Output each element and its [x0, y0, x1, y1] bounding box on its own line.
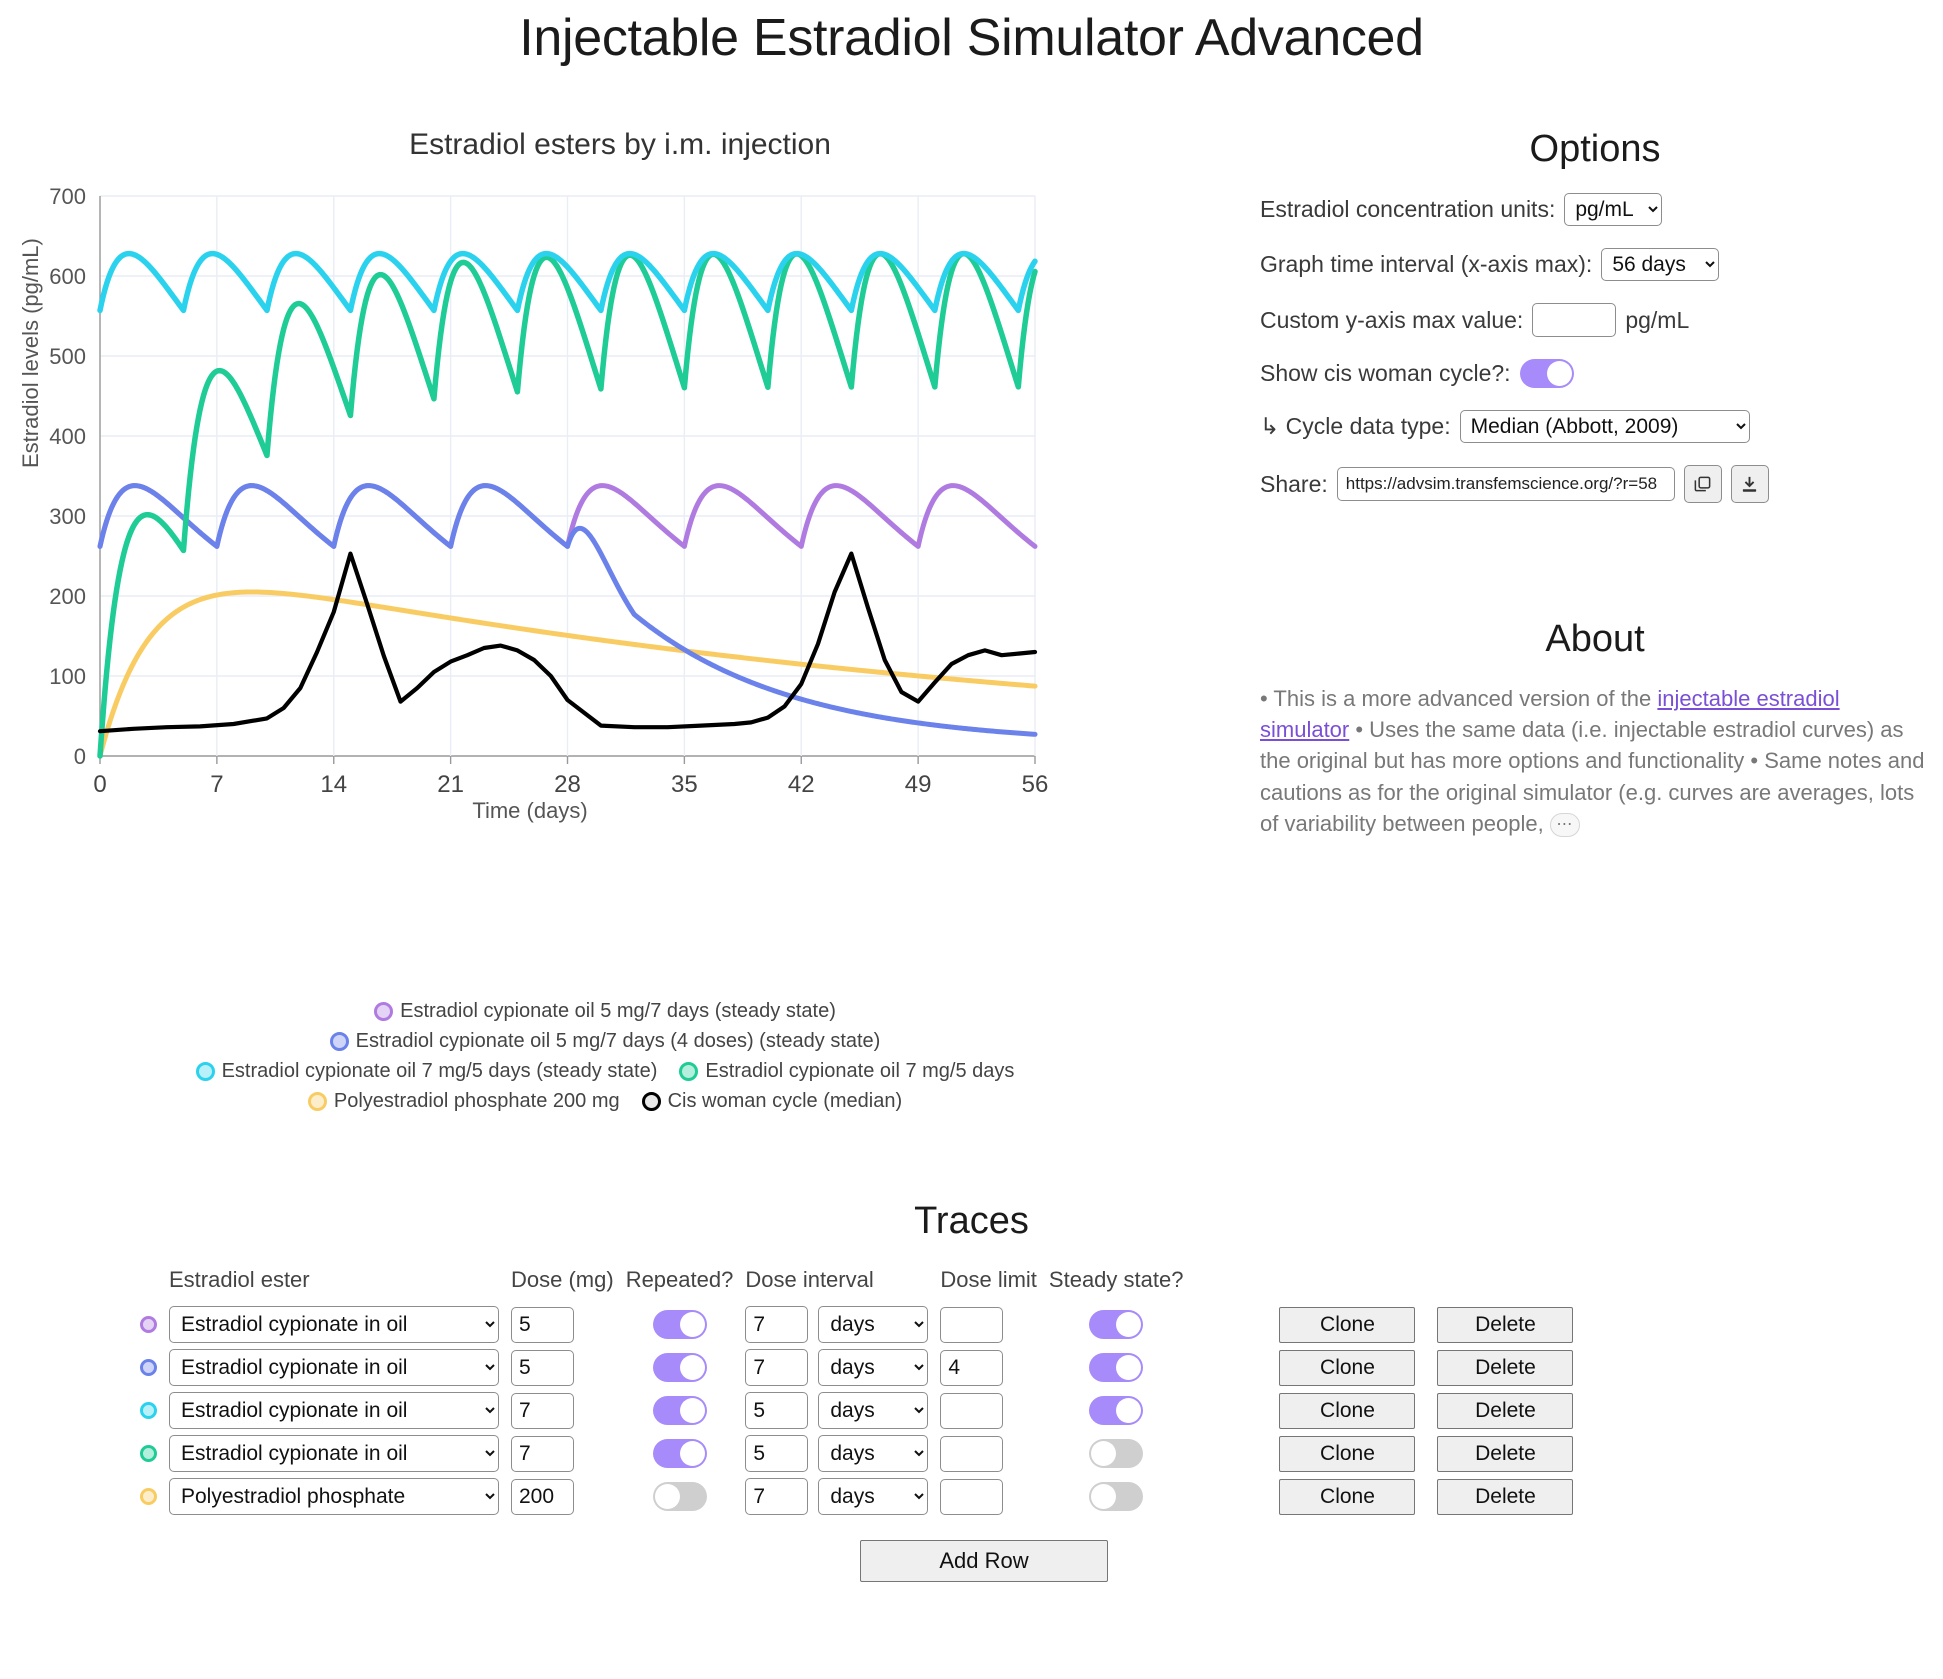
action-col [1195, 1267, 1427, 1303]
chart-legend: Estradiol cypionate oil 5 mg/7 days (ste… [0, 1000, 1210, 1113]
app-root: Injectable Estradiol Simulator Advanced … [0, 0, 1943, 1679]
chart-title: Estradiol esters by i.m. injection [0, 128, 1210, 162]
legend-item[interactable]: Estradiol cypionate oil 7 mg/5 days (ste… [196, 1060, 658, 1083]
svg-text:21: 21 [437, 771, 464, 798]
dose-cell [511, 1389, 626, 1432]
trace-color-icon [140, 1445, 157, 1462]
table-row: Estradiol cypionate in oilPolyestradiol … [140, 1303, 1585, 1346]
repeated-cell [626, 1346, 746, 1389]
dose-cell [511, 1346, 626, 1389]
svg-text:14: 14 [320, 771, 347, 798]
legend-row: Estradiol cypionate oil 7 mg/5 days (ste… [196, 1060, 1015, 1083]
ester-select[interactable]: Estradiol cypionate in oilPolyestradiol … [169, 1349, 499, 1386]
cycle-type-select[interactable]: Median (Abbott, 2009)Mean (Stricker, 200… [1460, 410, 1750, 443]
dose-input[interactable] [511, 1307, 574, 1343]
delete-cell: Delete [1427, 1389, 1585, 1432]
svg-text:300: 300 [49, 504, 86, 529]
steady-cell [1049, 1389, 1196, 1432]
legend-row: Estradiol cypionate oil 5 mg/7 days (ste… [374, 1000, 836, 1023]
legend-item[interactable]: Estradiol cypionate oil 7 mg/5 days [679, 1060, 1014, 1083]
ester-select[interactable]: Estradiol cypionate in oilPolyestradiol … [169, 1392, 499, 1429]
legend-color-icon [330, 1032, 349, 1051]
steady-state-toggle[interactable] [1089, 1310, 1143, 1339]
repeated-cell [626, 1475, 746, 1518]
svg-text:500: 500 [49, 344, 86, 369]
cycle-type-row: ↳ Cycle data type: Median (Abbott, 2009)… [1260, 410, 1930, 443]
units-select[interactable]: pg/mLpmol/L [1564, 193, 1662, 226]
clone-button[interactable]: Clone [1279, 1479, 1415, 1515]
clone-cell: Clone [1195, 1303, 1427, 1346]
steady-state-toggle[interactable] [1089, 1353, 1143, 1382]
delete-cell: Delete [1427, 1303, 1585, 1346]
repeated-toggle[interactable] [653, 1439, 707, 1468]
repeated-toggle[interactable] [653, 1353, 707, 1382]
share-url-input[interactable] [1337, 467, 1675, 501]
clone-button[interactable]: Clone [1279, 1350, 1415, 1386]
limit-cell [940, 1432, 1049, 1475]
dose-interval-input[interactable] [745, 1392, 808, 1429]
clone-cell: Clone [1195, 1346, 1427, 1389]
page-title: Injectable Estradiol Simulator Advanced [0, 8, 1943, 68]
dose-limit-input[interactable] [940, 1436, 1003, 1472]
svg-text:100: 100 [49, 664, 86, 689]
dose-interval-unit-select[interactable]: daysweeksmonths [818, 1478, 928, 1515]
ester-cell: Estradiol cypionate in oilPolyestradiol … [169, 1432, 511, 1475]
trace-color-cell [140, 1303, 169, 1346]
legend-row: Estradiol cypionate oil 5 mg/7 days (4 d… [330, 1030, 881, 1053]
dose-interval-input[interactable] [745, 1478, 808, 1515]
dose-interval-unit-select[interactable]: daysweeksmonths [818, 1349, 928, 1386]
svg-text:42: 42 [788, 771, 815, 798]
legend-color-icon [308, 1092, 327, 1111]
legend-color-icon [374, 1002, 393, 1021]
traces-panel: Traces Estradiol esterDose (mg)Repeated?… [0, 1200, 1943, 1582]
svg-text:600: 600 [49, 264, 86, 289]
svg-text:28: 28 [554, 771, 581, 798]
trace-color-cell [140, 1432, 169, 1475]
table-row: Estradiol cypionate in oilPolyestradiol … [140, 1389, 1585, 1432]
ester-cell: Estradiol cypionate in oilPolyestradiol … [169, 1475, 511, 1518]
legend-color-icon [679, 1062, 698, 1081]
clone-cell: Clone [1195, 1432, 1427, 1475]
delete-cell: Delete [1427, 1346, 1585, 1389]
about-text-1: • This is a more advanced version of the [1260, 686, 1657, 711]
steady-state-toggle[interactable] [1089, 1482, 1143, 1511]
chart-panel: Estradiol esters by i.m. injection Estra… [0, 128, 1210, 828]
time-interval-select[interactable]: 7 days14 days28 days56 days112 days [1601, 248, 1719, 281]
svg-text:56: 56 [1022, 771, 1049, 798]
add-row-button[interactable]: Add Row [860, 1540, 1108, 1582]
svg-text:49: 49 [905, 771, 932, 798]
repeated-toggle[interactable] [653, 1396, 707, 1425]
repeated-toggle[interactable] [653, 1310, 707, 1339]
options-panel: Options Estradiol concentration units: p… [1260, 128, 1930, 525]
repeated-toggle[interactable] [653, 1482, 707, 1511]
share-row: Share: [1260, 465, 1930, 503]
dose-limit-input[interactable] [940, 1393, 1003, 1429]
interval-cell: daysweeksmonths [745, 1432, 940, 1475]
column-header: Dose limit [940, 1267, 1049, 1303]
interval-cell: daysweeksmonths [745, 1475, 940, 1518]
delete-button[interactable]: Delete [1437, 1479, 1573, 1515]
clone-cell: Clone [1195, 1389, 1427, 1432]
dose-interval-unit-select[interactable]: daysweeksmonths [818, 1306, 928, 1343]
svg-text:400: 400 [49, 424, 86, 449]
trace-color-icon [140, 1402, 157, 1419]
dose-limit-input[interactable] [940, 1350, 1003, 1386]
dose-input[interactable] [511, 1350, 574, 1386]
clone-cell: Clone [1195, 1475, 1427, 1518]
legend-item[interactable]: Cis woman cycle (median) [642, 1090, 903, 1113]
dose-limit-input[interactable] [940, 1479, 1003, 1515]
legend-item[interactable]: Estradiol cypionate oil 5 mg/7 days (4 d… [330, 1030, 881, 1053]
dose-interval-input[interactable] [745, 1349, 808, 1386]
clone-button[interactable]: Clone [1279, 1307, 1415, 1343]
svg-text:7: 7 [210, 771, 223, 798]
dose-limit-input[interactable] [940, 1307, 1003, 1343]
legend-item[interactable]: Estradiol cypionate oil 5 mg/7 days (ste… [374, 1000, 836, 1023]
legend-item-label: Estradiol cypionate oil 5 mg/7 days (ste… [400, 1000, 836, 1023]
repeated-cell [626, 1432, 746, 1475]
custom-ymax-row: Custom y-axis max value: pg/mL [1260, 303, 1930, 337]
delete-button[interactable]: Delete [1437, 1307, 1573, 1343]
svg-text:700: 700 [49, 184, 86, 209]
delete-cell: Delete [1427, 1432, 1585, 1475]
dose-interval-input[interactable] [745, 1435, 808, 1472]
about-text: • This is a more advanced version of the… [1260, 683, 1930, 839]
table-row: Estradiol cypionate in oilPolyestradiol … [140, 1475, 1585, 1518]
legend-color-icon [642, 1092, 661, 1111]
ester-select[interactable]: Estradiol cypionate in oilPolyestradiol … [169, 1306, 499, 1343]
copy-icon[interactable] [1684, 465, 1722, 503]
add-row-container: Add Row [0, 1540, 1943, 1582]
dose-interval-unit-select[interactable]: daysweeksmonths [818, 1392, 928, 1429]
table-row: Estradiol cypionate in oilPolyestradiol … [140, 1346, 1585, 1389]
column-header: Dose (mg) [511, 1267, 626, 1303]
legend-item-label: Estradiol cypionate oil 7 mg/5 days [705, 1060, 1014, 1083]
steady-state-toggle[interactable] [1089, 1439, 1143, 1468]
svg-text:35: 35 [671, 771, 698, 798]
traces-heading: Traces [0, 1200, 1943, 1243]
ester-cell: Estradiol cypionate in oilPolyestradiol … [169, 1303, 511, 1346]
trace-color-col [140, 1267, 169, 1303]
show-cycle-row: Show cis woman cycle?: [1260, 359, 1930, 388]
traces-table: Estradiol esterDose (mg)Repeated?Dose in… [140, 1267, 1585, 1518]
about-text-2: • Uses the same data (i.e. injectable es… [1260, 717, 1924, 836]
repeated-cell [626, 1303, 746, 1346]
about-heading: About [1260, 618, 1930, 661]
dose-input[interactable] [511, 1436, 574, 1472]
svg-text:0: 0 [93, 771, 106, 798]
download-icon[interactable] [1731, 465, 1769, 503]
about-panel: About • This is a more advanced version … [1260, 618, 1930, 839]
delete-button[interactable]: Delete [1437, 1436, 1573, 1472]
ester-cell: Estradiol cypionate in oilPolyestradiol … [169, 1346, 511, 1389]
delete-button[interactable]: Delete [1437, 1393, 1573, 1429]
dose-cell [511, 1432, 626, 1475]
legend-item-label: Estradiol cypionate oil 5 mg/7 days (4 d… [356, 1030, 881, 1053]
steady-cell [1049, 1303, 1196, 1346]
share-label: Share: [1260, 471, 1328, 498]
traces-body: Estradiol cypionate in oilPolyestradiol … [140, 1303, 1585, 1518]
clone-button[interactable]: Clone [1279, 1436, 1415, 1472]
custom-ymax-input[interactable] [1532, 303, 1616, 337]
repeated-cell [626, 1389, 746, 1432]
interval-cell: daysweeksmonths [745, 1303, 940, 1346]
limit-cell [940, 1389, 1049, 1432]
trace-color-icon [140, 1488, 157, 1505]
trace-color-cell [140, 1389, 169, 1432]
action-col [1427, 1267, 1585, 1303]
chart-svg: 01002003004005006007000714212835424956 [0, 168, 1210, 808]
legend-item-label: Cis woman cycle (median) [668, 1090, 903, 1113]
column-header: Estradiol ester [169, 1267, 511, 1303]
ester-select[interactable]: Estradiol cypionate in oilPolyestradiol … [169, 1478, 499, 1515]
steady-state-toggle[interactable] [1089, 1396, 1143, 1425]
dose-input[interactable] [511, 1479, 574, 1515]
table-row: Estradiol cypionate in oilPolyestradiol … [140, 1432, 1585, 1475]
show-cycle-label: Show cis woman cycle?: [1260, 360, 1511, 387]
units-row: Estradiol concentration units: pg/mLpmol… [1260, 193, 1930, 226]
legend-item-label: Estradiol cypionate oil 7 mg/5 days (ste… [222, 1060, 658, 1083]
about-more-icon[interactable]: ⋯ [1550, 813, 1580, 837]
legend-row: Polyestradiol phosphate 200 mgCis woman … [308, 1090, 902, 1113]
options-heading: Options [1260, 128, 1930, 171]
traces-header-row: Estradiol esterDose (mg)Repeated?Dose in… [140, 1267, 1585, 1303]
units-label: Estradiol concentration units: [1260, 196, 1555, 223]
trace-color-cell [140, 1346, 169, 1389]
delete-button[interactable]: Delete [1437, 1350, 1573, 1386]
svg-text:0: 0 [74, 744, 86, 769]
dose-cell [511, 1475, 626, 1518]
show-cycle-toggle[interactable] [1520, 359, 1574, 388]
time-interval-row: Graph time interval (x-axis max): 7 days… [1260, 248, 1930, 281]
legend-item-label: Polyestradiol phosphate 200 mg [334, 1090, 620, 1113]
svg-text:200: 200 [49, 584, 86, 609]
interval-cell: daysweeksmonths [745, 1389, 940, 1432]
trace-color-cell [140, 1475, 169, 1518]
dose-interval-input[interactable] [745, 1306, 808, 1343]
custom-ymax-suffix: pg/mL [1625, 307, 1689, 334]
limit-cell [940, 1346, 1049, 1389]
dose-cell [511, 1303, 626, 1346]
interval-cell: daysweeksmonths [745, 1346, 940, 1389]
column-header: Steady state? [1049, 1267, 1196, 1303]
trace-color-icon [140, 1316, 157, 1333]
legend-color-icon [196, 1062, 215, 1081]
column-header: Dose interval [745, 1267, 940, 1303]
steady-cell [1049, 1432, 1196, 1475]
steady-cell [1049, 1346, 1196, 1389]
column-header: Repeated? [626, 1267, 746, 1303]
steady-cell [1049, 1475, 1196, 1518]
plot-area: Estradiol levels (pg/mL) Time (days) 010… [0, 168, 1210, 828]
custom-ymax-label: Custom y-axis max value: [1260, 307, 1523, 334]
limit-cell [940, 1475, 1049, 1518]
cycle-type-label: ↳ Cycle data type: [1260, 413, 1451, 440]
trace-color-icon [140, 1359, 157, 1376]
time-interval-label: Graph time interval (x-axis max): [1260, 251, 1592, 278]
legend-item[interactable]: Polyestradiol phosphate 200 mg [308, 1090, 620, 1113]
ester-cell: Estradiol cypionate in oilPolyestradiol … [169, 1389, 511, 1432]
dose-interval-unit-select[interactable]: daysweeksmonths [818, 1435, 928, 1472]
ester-select[interactable]: Estradiol cypionate in oilPolyestradiol … [169, 1435, 499, 1472]
limit-cell [940, 1303, 1049, 1346]
delete-cell: Delete [1427, 1475, 1585, 1518]
dose-input[interactable] [511, 1393, 574, 1429]
clone-button[interactable]: Clone [1279, 1393, 1415, 1429]
